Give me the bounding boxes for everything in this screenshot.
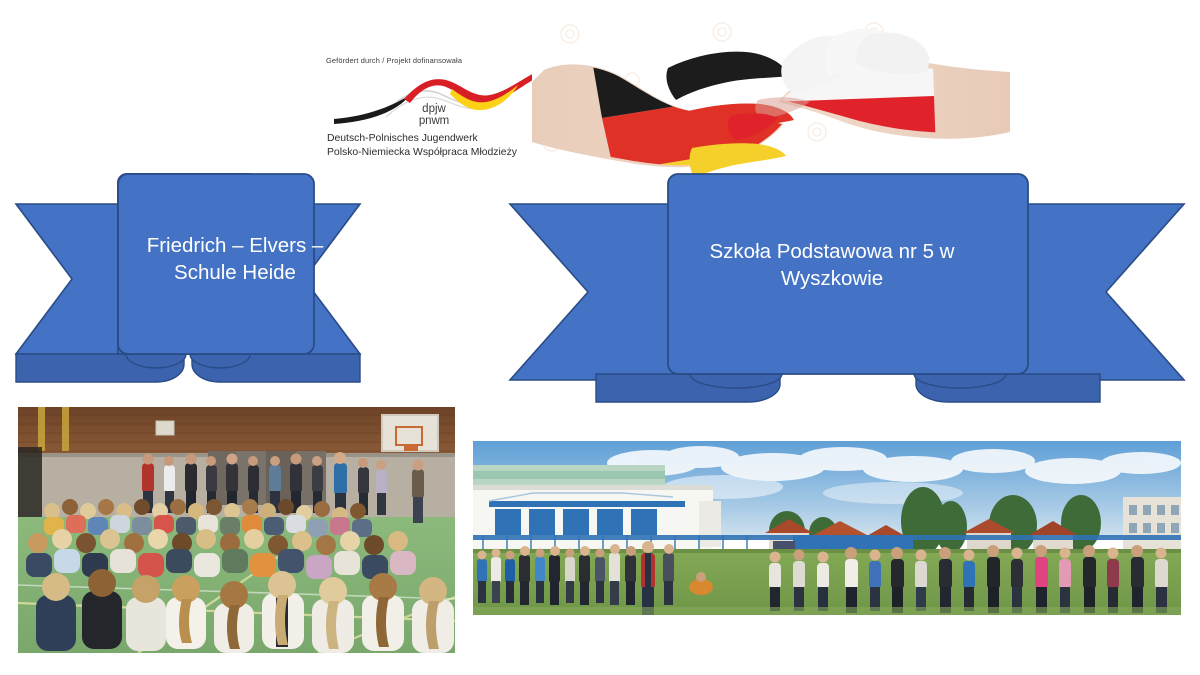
logo-funding-line: Gefördert durch / Projekt dofinansowała bbox=[326, 56, 541, 66]
banner-school-poland: Szkoła Podstawowa nr 5 w Wyszkowie bbox=[508, 168, 1184, 396]
logo-org-name-de: Deutsch-Polnisches Jugendwerk bbox=[327, 132, 517, 146]
photo-outdoor-run bbox=[473, 441, 1181, 615]
logo-org-name-pl: Polsko-Niemiecka Współpraca Młodzieży bbox=[327, 146, 517, 160]
photo-gym-assembly bbox=[18, 407, 455, 653]
logo-acronym: dpjw pnwm bbox=[404, 104, 464, 127]
banner-school-germany: Friedrich – Elvers – Schule Heide bbox=[14, 168, 362, 396]
dpjw-pnwm-logo: Gefördert durch / Projekt dofinansowała … bbox=[326, 56, 541, 166]
logo-acronym-pnwm: pnwm bbox=[404, 116, 464, 128]
german-polish-handshake-photo bbox=[532, 20, 1010, 175]
logo-acronym-dpjw: dpjw bbox=[404, 104, 464, 116]
logo-organisation-names: Deutsch-Polnisches Jugendwerk Polsko-Nie… bbox=[327, 132, 517, 159]
